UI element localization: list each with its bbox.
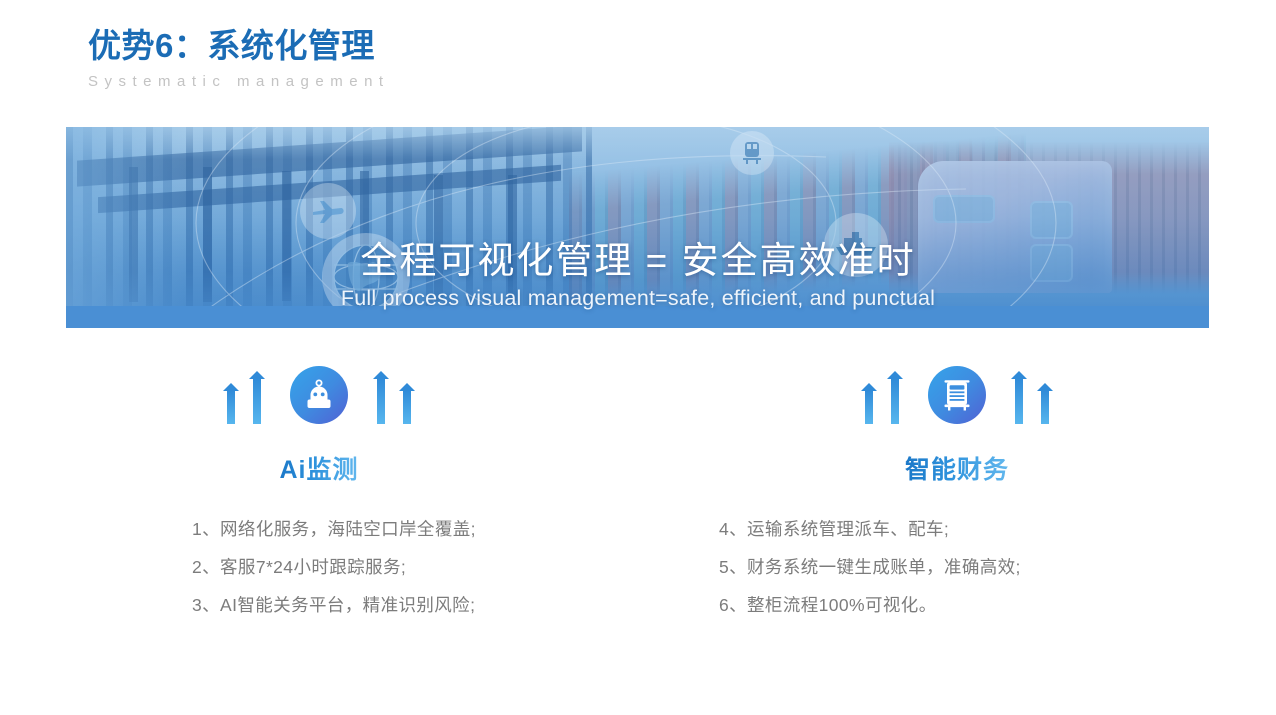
column-list-ai-monitoring: 1、网络化服务，海陆空口岸全覆盖; 2、客服7*24小时跟踪服务; 3、AI智能… <box>0 510 638 624</box>
icon-row-left <box>218 362 420 424</box>
arrow-up-icon <box>227 390 235 424</box>
icon-row-right <box>856 362 1058 424</box>
calculator-glyph <box>942 379 972 411</box>
arrow-up-icon <box>403 390 411 424</box>
column-title-ai-monitoring: Ai监测 <box>279 450 358 486</box>
feature-column-ai-monitoring: Ai监测 1、网络化服务，海陆空口岸全覆盖; 2、客服7*24小时跟踪服务; 3… <box>0 362 638 624</box>
column-title-smart-finance: 智能财务 <box>905 450 1009 486</box>
page-subtitle: Systematic management <box>88 73 390 90</box>
feature-columns: Ai监测 1、网络化服务，海陆空口岸全覆盖; 2、客服7*24小时跟踪服务; 3… <box>0 362 1276 624</box>
list-item: 5、财务系统一键生成账单，准确高效; <box>719 548 1276 586</box>
calculator-icon <box>928 366 986 424</box>
page-header: 优势6：系统化管理 Systematic management <box>88 24 390 90</box>
banner-subtitle: Full process visual management=safe, eff… <box>0 286 1276 311</box>
list-item: 3、AI智能关务平台，精准识别风险; <box>192 586 638 624</box>
banner-title: 全程可视化管理 = 安全高效准时 <box>0 238 1276 284</box>
arrow-up-icon <box>865 390 873 424</box>
arrow-up-icon <box>891 378 899 424</box>
banner-text-block: 全程可视化管理 = 安全高效准时 Full process visual man… <box>0 238 1276 311</box>
arrow-up-icon <box>1015 378 1023 424</box>
feature-column-smart-finance: 智能财务 4、运输系统管理派车、配车; 5、财务系统一键生成账单，准确高效; 6… <box>638 362 1276 624</box>
column-list-smart-finance: 4、运输系统管理派车、配车; 5、财务系统一键生成账单，准确高效; 6、整柜流程… <box>638 510 1276 624</box>
robot-glyph <box>302 378 336 412</box>
arrow-up-icon <box>253 378 261 424</box>
list-item: 2、客服7*24小时跟踪服务; <box>192 548 638 586</box>
robot-icon <box>290 366 348 424</box>
arrow-up-icon <box>377 378 385 424</box>
page-title: 优势6：系统化管理 <box>88 24 390 68</box>
arrow-up-icon <box>1041 390 1049 424</box>
list-item: 1、网络化服务，海陆空口岸全覆盖; <box>192 510 638 548</box>
list-item: 4、运输系统管理派车、配车; <box>719 510 1276 548</box>
list-item: 6、整柜流程100%可视化。 <box>719 586 1276 624</box>
